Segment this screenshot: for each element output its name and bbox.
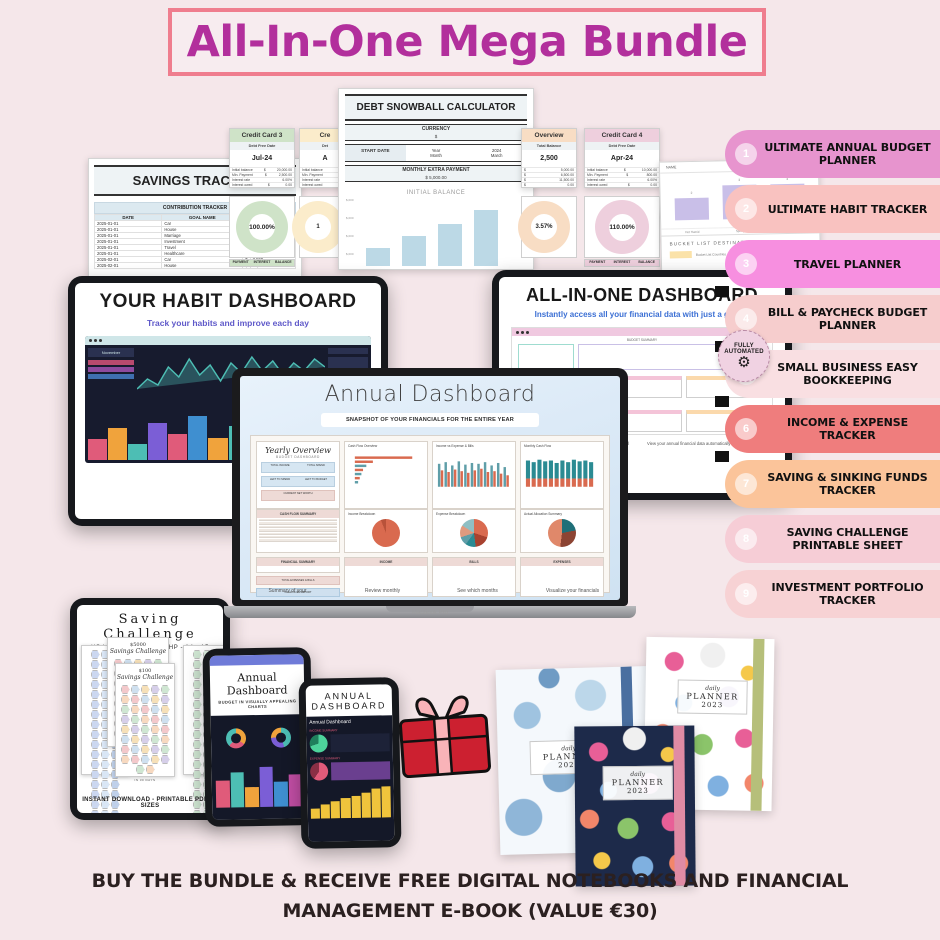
feature-label: BILL & PAYCHECK BUDGET PLANNER xyxy=(763,306,932,332)
bar-3 xyxy=(438,224,462,266)
savings-hex-cell xyxy=(141,735,150,744)
savings-hex-cell xyxy=(141,725,150,734)
annual-dashboard-title: Annual Dashboard xyxy=(240,376,620,407)
chart-expense-breakdown: Expense Breakdown xyxy=(432,509,516,553)
bar-4 xyxy=(474,210,498,266)
savings-hex-cell xyxy=(131,725,140,734)
feature-label: ULTIMATE ANNUAL BUDGET PLANNER xyxy=(763,141,932,167)
chart-actual-allocation: Actual Allocation Summary xyxy=(520,509,604,553)
credit-card-3-donut: 100.00% xyxy=(229,196,295,258)
caption-1: Summary of your xyxy=(240,588,335,594)
promo-line-1: BUY THE BUNDLE & RECEIVE FREE DIGITAL NO… xyxy=(0,866,940,896)
savings-hex-cell xyxy=(193,750,202,759)
overview-percent: 3.57% xyxy=(531,214,557,240)
savings-hex-cell xyxy=(91,680,100,689)
habit-dashboard-subtitle: Track your habits and improve each day xyxy=(75,318,381,328)
habit-dashboard-header: YOUR HABIT DASHBOARD Track your habits a… xyxy=(75,283,381,328)
savings-hex-cell xyxy=(121,705,130,714)
feature-number: 8 xyxy=(735,528,757,550)
credit-card-3-sublabel: Debt Free Date xyxy=(230,142,294,150)
savings-hex-cell xyxy=(146,765,155,774)
savings-hex-cell xyxy=(193,770,202,779)
sort-column-label: NAME xyxy=(666,165,676,169)
feature-label: SAVING CHALLENGE PRINTABLE SHEET xyxy=(763,526,932,552)
feature-number: 2 xyxy=(735,198,757,220)
laptop-captions: Summary of your Review monthly See which… xyxy=(240,588,620,594)
savings-hex-cell xyxy=(193,710,202,719)
annual-dashboard-sheet: Yearly Overview BUDGET DASHBOARD TOTAL I… xyxy=(250,435,610,593)
savings-hex-cell xyxy=(121,725,130,734)
savings-hex-cell xyxy=(91,650,100,659)
savings-hex-cell xyxy=(141,685,150,694)
extra-payment-band: MONTHLY EXTRA PAYMENT $ 5,000.00 xyxy=(345,165,527,182)
savings-hex-cell xyxy=(141,755,150,764)
dashboard-middle-row: CASH FLOW SUMMARY Income Breakdown Expen… xyxy=(256,509,604,553)
credit-card-3-percent: 100.00% xyxy=(249,214,275,240)
window-chrome xyxy=(85,336,371,345)
window-dot-yellow xyxy=(521,331,524,334)
savings-hex-cell xyxy=(91,770,100,779)
feature-item-8[interactable]: 8SAVING CHALLENGE PRINTABLE SHEET xyxy=(725,515,940,563)
dark-1-title: Annual Dashboard xyxy=(210,670,304,698)
savings-hex-cell xyxy=(121,715,130,724)
laptop-brand-label: MacBook Pro xyxy=(412,610,448,616)
chart-monthly-cash-flow: Monthly Cash Flow xyxy=(520,441,604,509)
window-dot-yellow xyxy=(94,339,97,342)
savings-hex-cell xyxy=(193,700,202,709)
chart-y-axis: $,000$,000 $,000$,000 xyxy=(346,198,366,266)
skeleton-row xyxy=(259,539,337,541)
savings-hex-cell xyxy=(193,730,202,739)
feature-label: ULTIMATE HABIT TRACKER xyxy=(763,203,932,216)
table-financial-summary: FINANCIAL SUMMARY xyxy=(256,557,340,573)
savings-hex-cell xyxy=(151,755,160,764)
page-title: All-In-One Mega Bundle xyxy=(187,17,748,67)
savings-hex-cell xyxy=(91,750,100,759)
credit-card-detail-row: Interest owed$0.00 xyxy=(230,182,294,187)
credit-card-detail-row: Interest owed$0.00 xyxy=(585,182,659,187)
savings-hex-cell xyxy=(151,705,160,714)
savings-hex-cell xyxy=(91,810,100,813)
savings-hex-cell xyxy=(131,745,140,754)
savings-hex-cell xyxy=(91,780,100,789)
initial-balance-bar-chart: $,000$,000 $,000$,000 xyxy=(344,198,528,266)
savings-hex-cell xyxy=(151,695,160,704)
currency-band: CURRENCY $ xyxy=(345,124,527,141)
feature-number: 9 xyxy=(735,583,757,605)
habit-dashboard-title: YOUR HABIT DASHBOARD xyxy=(75,291,381,313)
savings-hex-cell xyxy=(131,685,140,694)
savings-hex-cell xyxy=(161,755,170,764)
savings-hex-cell xyxy=(91,700,100,709)
savings-hex-cell xyxy=(193,760,202,769)
feature-label: SAVING & SINKING FUNDS TRACKER xyxy=(763,471,932,497)
skeleton-row xyxy=(259,522,337,524)
savings-hex-cell xyxy=(193,740,202,749)
debt-snowball-title: DEBT SNOWBALL CALCULATOR xyxy=(345,94,527,121)
savings-hex-cell xyxy=(91,670,100,679)
window-dot-green xyxy=(99,339,102,342)
bucket-bar-1: 2 xyxy=(675,198,709,221)
feature-item-2[interactable]: 2ULTIMATE HABIT TRACKER xyxy=(725,185,940,233)
savings-hex-cell xyxy=(101,780,110,789)
credit-card-4-donut: 110.00% xyxy=(584,196,660,258)
kpi-row-2: LEFT TO SPEND LEFT TO BUDGET xyxy=(261,476,335,487)
savings-hex-cell xyxy=(91,660,100,669)
savings-hex-cell xyxy=(101,810,110,813)
annual-dashboard-tablet-dark-1[interactable]: Annual Dashboard BUDGET IN VISUALLY APPE… xyxy=(202,647,313,827)
chart-income-vs-expense: Income vs Expense & Bills xyxy=(432,441,516,509)
promo-line-2: MANAGEMENT E-BOOK (VALUE €30) xyxy=(0,896,940,926)
savings-hex-cell xyxy=(91,760,100,769)
window-dot-red xyxy=(516,331,519,334)
caption-2: Review monthly xyxy=(335,588,430,594)
savings-hex-cell xyxy=(121,755,130,764)
feature-label: SMALL BUSINESS EASY BOOKKEEPING xyxy=(763,361,932,387)
macbook-laptop[interactable]: Annual Dashboard SNAPSHOT OF YOUR FINANC… xyxy=(224,368,636,630)
start-date-label: START DATE xyxy=(345,145,406,161)
feature-label: INVESTMENT PORTFOLIO TRACKER xyxy=(763,581,932,607)
savings-hex-cell xyxy=(101,770,110,779)
initial-balance-chart-title: INITIAL BALANCE xyxy=(339,190,533,196)
dark-1-subtitle: BUDGET IN VISUALLY APPEALING CHARTS xyxy=(210,698,304,710)
dark-dashboard-screen-1: Annual Dashboard BUDGET IN VISUALLY APPE… xyxy=(210,654,307,820)
dark-2-section-expense: EXPENSE SUMMARY xyxy=(310,755,390,760)
savings-hex-cell xyxy=(121,735,130,744)
savings-hex-cell xyxy=(161,685,170,694)
annual-dashboard-tablet-dark-2[interactable]: ANNUAL DASHBOARD Annual Dashboard INCOME… xyxy=(299,677,402,849)
window-dot-green xyxy=(526,331,529,334)
table-cash-flow-summary: CASH FLOW SUMMARY xyxy=(256,509,340,553)
savings-hex-cell xyxy=(151,735,160,744)
feature-label: INCOME & EXPENSE TRACKER xyxy=(763,416,932,442)
caption-4: Visualize your financials xyxy=(525,588,620,594)
saving-challenge-screen: Saving Challenge US LETTER - CLASSIC HP … xyxy=(77,605,223,813)
savings-hex-cell xyxy=(101,760,110,769)
credit-card-3-panel: Credit Card 3 Debt Free Date Jul-24 Init… xyxy=(229,128,295,188)
savings-hex-cell xyxy=(151,685,160,694)
saving-challenge-footer: INSTANT DOWNLOAD - PRINTABLE PDF - 4 SIZ… xyxy=(77,797,223,809)
overview-detail-row: $0.00 xyxy=(522,182,576,187)
feature-number: 4 xyxy=(735,308,757,330)
savings-hex-cell xyxy=(161,735,170,744)
feature-item-6[interactable]: 6INCOME & EXPENSE TRACKER xyxy=(725,405,940,453)
skeleton-row xyxy=(259,536,337,538)
overview-panel: Overview Total Balance 2,500 $5,000.00$6… xyxy=(521,128,577,188)
savings-hex-cell xyxy=(161,695,170,704)
savings-hex-cell xyxy=(91,730,100,739)
savings-hex-cell xyxy=(121,685,130,694)
feature-item-7[interactable]: 7SAVING & SINKING FUNDS TRACKER xyxy=(725,460,940,508)
savings-hex-cell xyxy=(193,680,202,689)
savings-hex-cell xyxy=(141,715,150,724)
overview-donut: 3.57% xyxy=(521,196,577,258)
savings-hex-cell xyxy=(91,740,100,749)
savings-hex-cell xyxy=(91,720,100,729)
credit-card-4-percent: 110.00% xyxy=(609,214,636,241)
challenge-sheet-100: $100 Savings Challenge IN 30 DAYS xyxy=(115,663,175,777)
laptop-lid: Annual Dashboard SNAPSHOT OF YOUR FINANC… xyxy=(232,368,628,606)
book-label: daily PLANNER 2023 xyxy=(677,679,748,714)
feature-item-9[interactable]: 9INVESTMENT PORTFOLIO TRACKER xyxy=(725,570,940,618)
skeleton-row xyxy=(259,526,337,528)
skeleton-row xyxy=(259,519,337,521)
window-dot-red xyxy=(89,339,92,342)
habit-month-label: November xyxy=(88,348,134,357)
dark-2-title: ANNUAL DASHBOARD xyxy=(306,684,392,711)
feature-number: 3 xyxy=(735,253,757,275)
credit-card-4-date: Apr-24 xyxy=(585,150,659,167)
bar-2 xyxy=(402,236,426,266)
savings-hex-cell xyxy=(151,725,160,734)
savings-hex-cell xyxy=(141,695,150,704)
savings-hex-cell xyxy=(193,670,202,679)
fully-automated-badge: FULLY AUTOMATED ⚙ xyxy=(718,330,770,382)
credit-card-4-payment-header: PAYMENT INTEREST BALANCE xyxy=(584,259,660,267)
dark-1-charts xyxy=(211,714,307,820)
connector-tab xyxy=(715,396,729,407)
savings-hex-cell xyxy=(151,715,160,724)
gear-icon: ⚙ xyxy=(737,355,750,370)
planner-book-navy: daily PLANNER 2023 xyxy=(574,725,695,886)
bar-1 xyxy=(366,248,390,266)
savings-hex-cell xyxy=(193,690,202,699)
book-spine xyxy=(673,726,685,886)
savings-hex-cell xyxy=(141,705,150,714)
dashboard-top-row: Yearly Overview BUDGET DASHBOARD TOTAL I… xyxy=(256,441,604,505)
savings-hex-cell xyxy=(193,720,202,729)
legend-swatch xyxy=(670,251,692,258)
overview-title: Overview xyxy=(522,129,576,142)
savings-hex-cell xyxy=(193,810,202,813)
feature-number: 6 xyxy=(735,418,757,440)
savings-hex-cell xyxy=(131,695,140,704)
start-date-band: START DATE Year Month 2024 March xyxy=(345,144,527,162)
overview-balance-label: Total Balance xyxy=(522,142,576,150)
skeleton-rows xyxy=(257,519,339,542)
savings-hex-cell xyxy=(193,650,202,659)
net-worth-row: CURRENT NET WORTH xyxy=(261,490,335,501)
legend-label: Bucket List Countries xyxy=(696,252,726,257)
savings-hex-cell xyxy=(91,690,100,699)
skeleton-row xyxy=(259,529,337,531)
yearly-overview-card: Yearly Overview BUDGET DASHBOARD TOTAL I… xyxy=(256,441,340,509)
overview-balance-value: 2,500 xyxy=(522,150,576,167)
credit-card-4-panel: Credit Card 4 Debt Free Date Apr-24 Init… xyxy=(584,128,660,188)
savings-hex-cell xyxy=(91,710,100,719)
savings-hex-cell xyxy=(121,695,130,704)
credit-card-3-payment-header: PAYMENT INTEREST BALANCE xyxy=(229,259,295,267)
dark-dashboard-screen-2: ANNUAL DASHBOARD Annual Dashboard INCOME… xyxy=(306,684,395,841)
feature-number: 1 xyxy=(735,143,757,165)
kpi-row-1: TOTAL INCOME TOTAL SPEND xyxy=(261,462,335,473)
credit-card-3-date: Jul-24 xyxy=(230,150,294,167)
savings-hex-cell xyxy=(193,660,202,669)
bottom-promo-copy: BUY THE BUNDLE & RECEIVE FREE DIGITAL NO… xyxy=(0,866,940,926)
poster-canvas: All-In-One Mega Bundle SAVINGS TRACKER C… xyxy=(0,0,940,940)
credit-card-4-name: Credit Card 4 xyxy=(585,129,659,142)
savings-hex-cell xyxy=(161,745,170,754)
year-value-cell: 2024 March xyxy=(466,145,527,161)
savings-hex-cell xyxy=(111,810,120,813)
savings-hex-cell xyxy=(136,765,145,774)
feature-number: 7 xyxy=(735,473,757,495)
savings-hex-cell xyxy=(151,745,160,754)
savings-hex-cell xyxy=(161,705,170,714)
year-cell: Year Month xyxy=(406,145,467,161)
skeleton-row xyxy=(259,533,337,535)
savings-hex-cell xyxy=(161,725,170,734)
dark-2-subtitle: Annual Dashboard xyxy=(309,718,389,725)
caption-3: See which months xyxy=(430,588,525,594)
credit-card-3-name: Credit Card 3 xyxy=(230,129,294,142)
credit-card-4-sublabel: Debt Free Date xyxy=(585,142,659,150)
chart-income-breakdown: Income Breakdown xyxy=(344,509,428,553)
dark-2-section-income: INCOME SUMMARY xyxy=(309,727,389,732)
book-label: daily PLANNER 2023 xyxy=(603,766,673,801)
savings-hex-cell xyxy=(131,705,140,714)
savings-hex-cell xyxy=(193,780,202,789)
savings-hex-cell xyxy=(131,755,140,764)
savings-hex-cell xyxy=(141,745,150,754)
button-total-expenses[interactable]: TOTAL EXPENSES & BILLS xyxy=(256,576,340,585)
banner: All-In-One Mega Bundle xyxy=(168,8,766,76)
gift-box-icon xyxy=(392,692,498,778)
book-spine xyxy=(750,639,764,811)
connector-tab xyxy=(715,451,729,462)
savings-hex-cell xyxy=(131,735,140,744)
annual-dashboard-subtitle: SNAPSHOT OF YOUR FINANCIALS FOR THE ENTI… xyxy=(321,413,539,427)
chart-cash-flow-overview: Cash Flow Overview xyxy=(344,441,428,509)
connector-tab xyxy=(715,286,729,297)
feature-item-3[interactable]: 3TRAVEL PLANNER xyxy=(725,240,940,288)
savings-hex-cell xyxy=(131,715,140,724)
savings-hex-cell xyxy=(121,745,130,754)
feature-item-1[interactable]: 1ULTIMATE ANNUAL BUDGET PLANNER xyxy=(725,130,940,178)
annual-dashboard-screen: Annual Dashboard SNAPSHOT OF YOUR FINANC… xyxy=(240,376,620,600)
savings-hex-cell xyxy=(161,715,170,724)
feature-label: TRAVEL PLANNER xyxy=(763,258,932,271)
